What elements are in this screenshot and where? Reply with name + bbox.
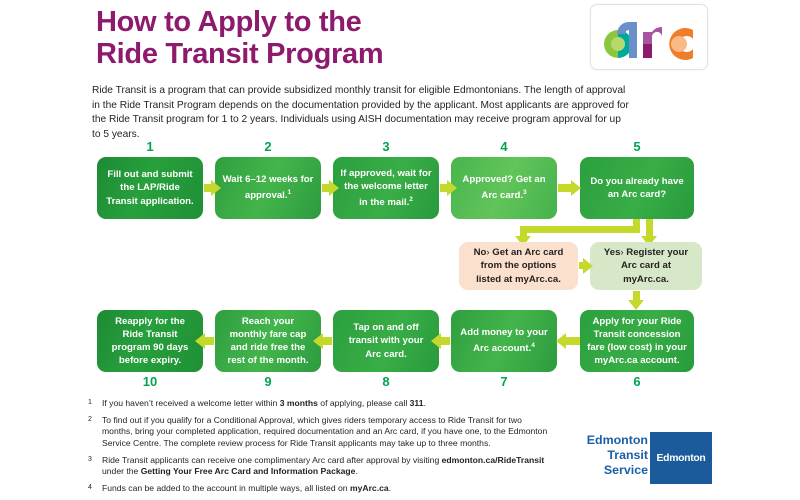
step-box-7-text: Add money to your Arc account. [460,327,547,354]
branch-no-text: Get an Arc card from the options listed … [476,247,563,284]
footnote-1-text: If you haven’t received a welcome letter… [102,398,426,408]
step-box-4-sup: 3 [523,189,527,196]
arrow-6-to-7-head [556,333,566,349]
edmonton-badge-text: Edmonton [657,453,706,464]
footnote-4: 4 Funds can be added to the account in m… [88,483,548,494]
step-box-7-sup: 4 [531,342,535,349]
arrow-4-to-5-head [571,180,581,196]
step-box-6: Apply for your Ride Transit concession f… [580,310,694,372]
step-box-5: Do you already have an Arc card? [580,157,694,219]
branch-split-horizontal [520,226,640,233]
step-box-2: Wait 6–12 weeks for approval.1 [215,157,321,219]
ets-line-1: Edmonton [562,433,648,448]
arrow-4-to-5-shaft [558,184,572,192]
arrow-9-to-10-head [195,333,205,349]
step-number-10: 10 [120,374,180,389]
step-box-1-text: Fill out and submit the LAP/Ride Transit… [104,168,196,208]
branch-box-no: No› Get an Arc card from the options lis… [459,242,578,290]
footnote-1: 1 If you haven’t received a welcome lett… [88,398,548,409]
title-line-1: How to Apply to the [96,6,361,38]
step-number-8: 8 [356,374,416,389]
step-box-10: Reapply for the Ride Transit program 90 … [97,310,203,372]
step-box-9-text: Reach your monthly fare cap and ride fre… [222,315,314,368]
arrow-2-to-3-head [329,180,339,196]
arc-logo [590,4,708,70]
arrow-8-to-9-head [313,333,323,349]
footnote-4-marker: 4 [88,482,92,493]
arrow-no-to-yes-head [583,258,593,274]
title-line-2: Ride Transit Program [96,38,566,70]
step-number-4: 4 [474,139,534,154]
arrow-3-to-4-head [447,180,457,196]
arrow-6-to-7-shaft [566,337,580,345]
intro-paragraph: Ride Transit is a program that can provi… [92,84,632,142]
footnote-3: 3 Ride Transit applicants can receive on… [88,455,548,478]
branch-no-label: No [474,247,487,258]
arrow-7-to-8-head [431,333,441,349]
step-box-7: Add money to your Arc account.4 [451,310,557,372]
branch-yes-label: Yes [604,247,621,258]
step-box-9: Reach your monthly fare cap and ride fre… [215,310,321,372]
step-number-9: 9 [238,374,298,389]
ets-line-2: Transit [562,448,648,463]
edmonton-city-badge: Edmonton [650,432,712,484]
branch-no-chevron: › [486,247,489,258]
step-box-3: If approved, wait for the welcome letter… [333,157,439,219]
step-number-1: 1 [120,139,180,154]
footnote-4-text: Funds can be added to the account in mul… [102,483,391,493]
footnote-3-marker: 3 [88,454,92,465]
branch-yes-text: Register your Arc card at myArc.ca. [621,247,688,284]
footnote-2-marker: 2 [88,414,92,425]
step-box-4-text: Approved? Get an Arc card. [462,174,545,201]
step-box-6-text: Apply for your Ride Transit concession f… [587,315,687,368]
branch-box-yes: Yes› Register your Arc card at myArc.ca. [590,242,702,290]
step-box-3-sup: 2 [409,196,413,203]
ets-wordmark: Edmonton Transit Service [562,433,648,478]
step-number-7: 7 [474,374,534,389]
step-box-2-sup: 1 [288,189,292,196]
step-number-6: 6 [607,374,667,389]
page-title: How to Apply to the Ride Transit Program [96,6,566,70]
ets-line-3: Service [562,463,648,478]
step-box-3-text: If approved, wait for the welcome letter… [340,168,431,209]
infographic-page: How to Apply to the Ride Transit Program… [0,0,800,494]
footnote-1-marker: 1 [88,397,92,408]
arrow-1-to-2-head [211,180,221,196]
edmonton-transit-service-logo: Edmonton Transit Service Edmonton [570,432,720,484]
footnote-2: 2 To find out if you qualify for a Condi… [88,415,548,449]
arrow-7-to-8-shaft [441,337,450,345]
arrow-yes-to-6-head [628,300,644,310]
arrow-8-to-9-shaft [323,337,332,345]
step-box-4: Approved? Get an Arc card.3 [451,157,557,219]
arrow-9-to-10-shaft [205,337,214,345]
step-box-10-text: Reapply for the Ride Transit program 90 … [104,315,196,368]
footnote-2-text: To find out if you qualify for a Conditi… [102,415,547,448]
step-box-8: Tap on and off transit with your Arc car… [333,310,439,372]
step-box-1: Fill out and submit the LAP/Ride Transit… [97,157,203,219]
branch-yes-chevron: › [620,247,623,258]
step-box-5-text: Do you already have an Arc card? [587,175,687,201]
footnotes: 1 If you haven’t received a welcome lett… [88,398,548,500]
step-number-3: 3 [356,139,416,154]
step-number-2: 2 [238,139,298,154]
step-box-2-text: Wait 6–12 weeks for approval. [223,174,314,201]
footnote-3-text: Ride Transit applicants can receive one … [102,455,544,476]
step-box-8-text: Tap on and off transit with your Arc car… [340,321,432,361]
arc-logo-icon [601,14,697,60]
step-number-5: 5 [607,139,667,154]
